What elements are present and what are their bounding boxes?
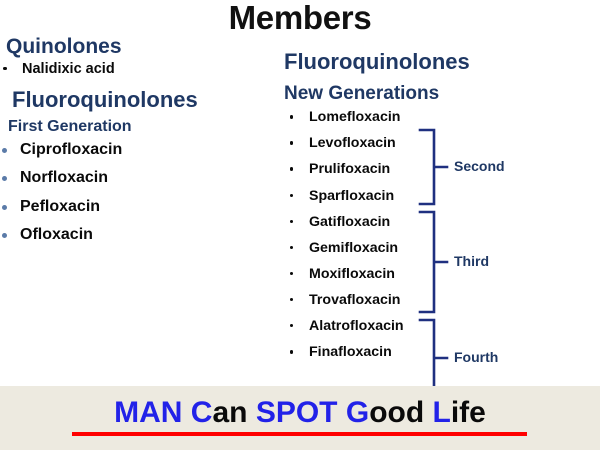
mnemonic-text: MAN Can SPOT Good Life [0,392,600,434]
quinolones-list: Nalidixic acid [0,59,275,79]
mnemonic-segment [182,396,190,429]
curly-bracket-icon [418,318,452,396]
bullet-icon [290,298,293,301]
bullet-icon [3,67,7,71]
list-item-label: Ofloxacin [20,226,93,243]
bracket-label-second: Second [454,158,505,174]
mnemonic-segment: SPOT [256,396,338,429]
list-item-label: Pefloxacin [20,198,100,215]
mnemonic-underline [72,432,527,436]
list-item: Norfloxacin [0,164,275,193]
curly-bracket-icon [418,210,452,314]
bullet-icon [290,141,293,144]
list-item-label: Moxifloxacin [309,266,395,282]
list-item: Pefloxacin [0,193,275,222]
generation-brackets: Second Third Fourth [418,128,600,396]
bullet-icon [290,272,293,275]
first-generation-list: Ciprofloxacin Norfloxacin Pefloxacin Ofl… [0,136,275,250]
list-item-label: Finafloxacin [309,344,392,360]
bracket-group-second: Second [418,128,600,206]
bracket-label-fourth: Fourth [454,349,498,365]
list-item-label: Gemifloxacin [309,240,398,256]
list-item: Ofloxacin [0,221,275,250]
bracket-group-fourth: Fourth [418,318,600,396]
heading-fluoroquinolones-left: Fluoroquinolones [12,88,275,112]
mnemonic-segment: C [191,396,213,429]
bullet-icon [290,194,293,197]
left-column: Quinolones Nalidixic acid Fluoroquinolon… [0,36,275,250]
list-item-label: Trovafloxacin [309,292,400,308]
list-item: Lomefloxacin [282,104,600,130]
page-title: Members [0,0,600,38]
list-item: Nalidixic acid [0,59,275,79]
bullet-icon [290,167,293,170]
mnemonic-segment: G [346,396,369,429]
bullet-icon [2,205,7,210]
bullet-icon [2,148,7,153]
bullet-icon [290,350,293,353]
list-item-label: Alatrofloxacin [309,318,404,334]
mnemonic-segment: an [212,396,255,429]
mnemonic-segment: L [433,396,451,429]
list-item-label: Prulifoxacin [309,161,390,177]
bullet-icon [2,233,7,238]
list-item-label: Norfloxacin [20,169,108,186]
heading-quinolones: Quinolones [6,36,275,59]
list-item-label: Ciprofloxacin [20,141,122,158]
slide-canvas: Members Quinolones Nalidixic acid Fluoro… [0,0,600,450]
list-item-label: Sparfloxacin [309,188,394,204]
list-item-label: Levofloxacin [309,135,396,151]
list-item: Ciprofloxacin [0,136,275,165]
heading-first-generation: First Generation [8,118,275,135]
mnemonic-banner: MAN Can SPOT Good Life [0,386,600,450]
bullet-icon [290,115,293,118]
mnemonic-segment: ife [451,396,486,429]
list-item-label: Gatifloxacin [309,214,390,230]
heading-new-generations: New Generations [284,84,600,105]
mnemonic-segment: ood [369,396,432,429]
bracket-label-third: Third [454,253,489,269]
bullet-icon [2,176,7,181]
bullet-icon [290,246,293,249]
mnemonic-segment [338,396,346,429]
list-item-label: Nalidixic acid [22,61,115,77]
bullet-icon [290,220,293,223]
bracket-group-third: Third [418,210,600,314]
mnemonic-segment: MAN [114,396,182,429]
list-item-label: Lomefloxacin [309,109,400,125]
curly-bracket-icon [418,128,452,206]
bullet-icon [290,324,293,327]
heading-fluoroquinolones-right: Fluoroquinolones [284,50,600,74]
